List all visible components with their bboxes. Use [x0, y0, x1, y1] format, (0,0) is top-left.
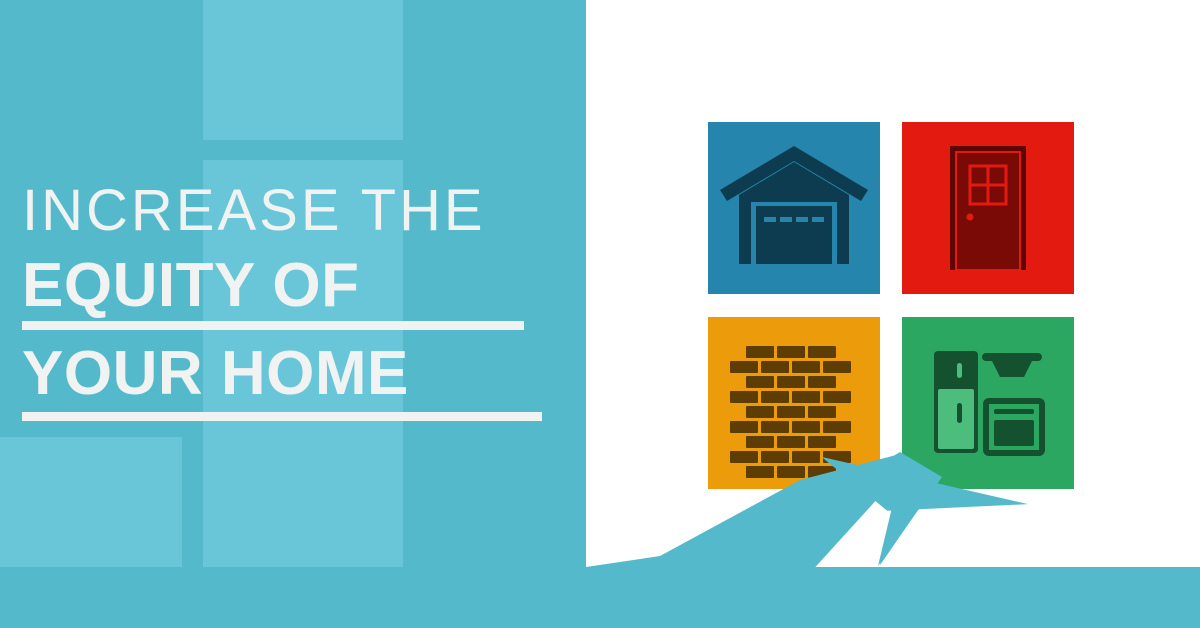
tile-front-door[interactable] — [902, 122, 1074, 294]
tile-kitchen-appliances[interactable] — [902, 317, 1074, 489]
banner-canvas: INCREASE THE EQUITY OF YOUR HOME — [0, 0, 1200, 628]
headline-block: INCREASE THE EQUITY OF YOUR HOME — [22, 180, 567, 421]
kitchen-appliance-icon — [902, 317, 1074, 489]
headline-line-2: EQUITY OF — [22, 254, 567, 317]
headline-underline-1 — [22, 321, 524, 330]
garage-icon — [708, 122, 880, 294]
headline-line-1: INCREASE THE — [22, 180, 567, 242]
tile-garage[interactable] — [708, 122, 880, 294]
brick-wall-icon — [708, 317, 880, 489]
background-pane-bottom-right — [203, 437, 403, 567]
headline-underline-2 — [22, 412, 542, 421]
headline-line-3: YOUR HOME — [22, 342, 567, 405]
background-pane-bottom-left — [0, 437, 182, 567]
bottom-teal-strip — [0, 567, 1200, 628]
front-door-icon — [902, 122, 1074, 294]
background-pane-top-left — [203, 0, 403, 140]
tile-brick-wall[interactable] — [708, 317, 880, 489]
